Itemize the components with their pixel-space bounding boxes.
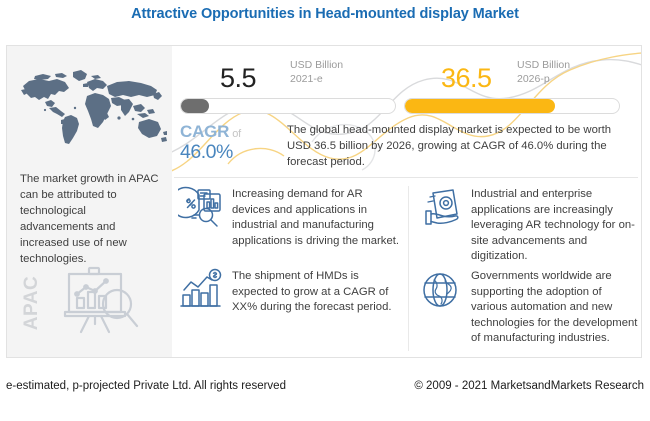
bullet-text: Industrial and enterprise applications a… — [471, 186, 639, 265]
stat-2026-progress-track — [404, 98, 620, 114]
cagr-label-row: CAGRof — [180, 122, 285, 142]
growth-bar-chart-dollar-icon — [178, 268, 226, 314]
pie-chart-percent-bar-magnifier-icon — [178, 186, 226, 232]
hand-holding-device-icon — [417, 186, 465, 232]
apac-region-label: APAC — [21, 276, 43, 330]
page-title: Attractive Opportunities in Head-mounted… — [0, 6, 650, 22]
stat-2026-unit: USD Billion 2026-p — [517, 58, 570, 86]
stat-2026-unit-line2: 2026-p — [517, 72, 570, 86]
world-map-icon — [15, 64, 167, 152]
cagr-label: CAGR — [180, 122, 229, 141]
bullet-text: Governments worldwide are supporting the… — [471, 268, 639, 347]
globe-icon — [417, 268, 465, 314]
stat-2021-unit: USD Billion 2021-e — [290, 58, 343, 86]
stat-2026-value: 36.5 — [441, 63, 492, 94]
bullet-text: Increasing demand for AR devices and app… — [232, 186, 404, 249]
bullet-item: Governments worldwide are supporting the… — [417, 268, 639, 347]
stat-2021-unit-line2: 2021-e — [290, 72, 343, 86]
stat-2026-unit-line1: USD Billion — [517, 58, 570, 72]
market-description: The global head-mounted display market i… — [287, 122, 633, 170]
presentation-chart-magnifier-icon — [59, 264, 145, 345]
stat-2026-progress-fill — [405, 99, 555, 113]
footer-copyright: © 2009 - 2021 MarketsandMarkets Research — [370, 378, 644, 395]
bullet-item: Increasing demand for AR devices and app… — [178, 186, 404, 249]
apac-panel-text: The market growth in APAC can be attribu… — [20, 171, 160, 267]
apac-panel: The market growth in APAC can be attribu… — [7, 46, 172, 358]
horizontal-divider — [174, 177, 638, 178]
bullet-item: Industrial and enterprise applications a… — [417, 186, 639, 265]
infographic-card: The market growth in APAC can be attribu… — [6, 45, 642, 358]
vertical-divider — [408, 186, 409, 351]
footer-note: e-estimated, p-projected Private Ltd. Al… — [6, 378, 336, 395]
bullet-text: The shipment of HMDs is expected to grow… — [232, 268, 404, 316]
stat-2021-unit-line1: USD Billion — [290, 58, 343, 72]
stat-2021: 5.5 USD Billion 2021-e — [176, 54, 401, 92]
stat-2021-value: 5.5 — [220, 63, 256, 94]
apac-region-block: APAC — [17, 264, 167, 344]
stat-2026: 36.5 USD Billion 2026-p — [404, 54, 636, 92]
bullet-item: The shipment of HMDs is expected to grow… — [178, 268, 404, 316]
cagr-block: CAGRof 46.0% — [180, 122, 285, 164]
cagr-value: 46.0% — [180, 141, 285, 164]
content-area: 5.5 USD Billion 2021-e 36.5 USD Billion … — [172, 46, 642, 358]
stat-2021-progress-track — [180, 98, 396, 114]
cagr-of-label: of — [232, 128, 241, 140]
stat-2021-progress-fill — [181, 99, 209, 113]
